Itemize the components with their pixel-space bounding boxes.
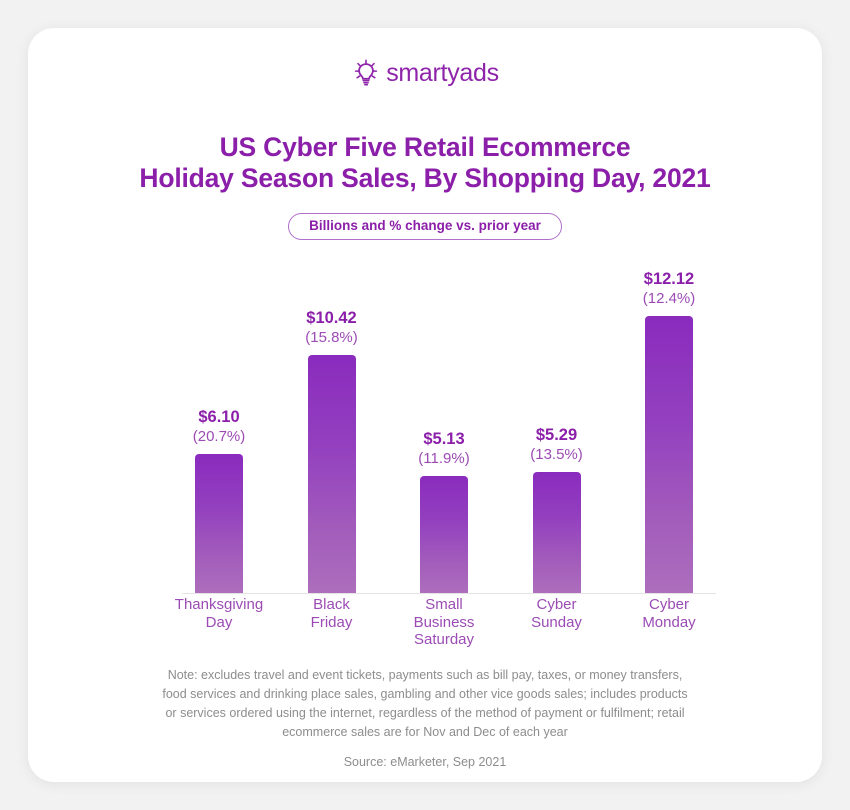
bar-value-cyber-monday: $12.12 xyxy=(643,270,696,289)
x-label-cyber-sunday: Cyber Sunday xyxy=(502,596,612,649)
x-label-cyber-monday-line-1: Cyber xyxy=(614,596,724,614)
x-axis-category-labels: Thanksgiving Day Black Friday Small Busi… xyxy=(164,596,724,649)
subtitle-badge: Billions and % change vs. prior year xyxy=(288,213,562,240)
bar-change-small-business-saturday: (11.9%) xyxy=(418,449,469,468)
source-line: Source: eMarketer, Sep 2021 xyxy=(125,754,725,771)
bar-value-cyber-sunday: $5.29 xyxy=(530,426,583,445)
chart-card: smartyads US Cyber Five Retail Ecommerce… xyxy=(28,28,822,782)
x-label-cyber-monday-line-2: Monday xyxy=(614,614,724,632)
bar-column-thanksgiving-day: $6.10 (20.7%) xyxy=(164,255,274,593)
brand-name: smartyads xyxy=(386,59,499,88)
x-label-small-business-saturday-line-3: Saturday xyxy=(389,631,499,649)
x-label-cyber-sunday-line-2: Sunday xyxy=(502,614,612,632)
lightbulb-icon xyxy=(351,58,381,88)
footnote-line-2: food services and drinking place sales, … xyxy=(125,685,725,704)
footnote: Note: excludes travel and event tickets,… xyxy=(125,666,725,742)
axis-baseline xyxy=(182,593,716,595)
x-label-thanksgiving-day-line-2: Day xyxy=(164,614,274,632)
x-label-thanksgiving-day: Thanksgiving Day xyxy=(164,596,274,649)
x-label-black-friday: Black Friday xyxy=(277,596,387,649)
footnote-line-1: Note: excludes travel and event tickets,… xyxy=(125,666,725,685)
bar-label-cyber-monday: $12.12 (12.4%) xyxy=(643,270,696,308)
x-label-small-business-saturday-line-2: Business xyxy=(389,614,499,632)
bar-value-black-friday: $10.42 xyxy=(305,309,358,328)
footnote-line-4: ecommerce sales are for Nov and Dec of e… xyxy=(125,723,725,742)
bar-cyber-sunday[interactable] xyxy=(533,472,581,593)
subtitle-badge-wrapper: Billions and % change vs. prior year xyxy=(28,213,822,240)
x-label-cyber-monday: Cyber Monday xyxy=(614,596,724,649)
x-label-black-friday-line-2: Friday xyxy=(277,614,387,632)
bar-thanksgiving-day[interactable] xyxy=(195,454,243,593)
bar-black-friday[interactable] xyxy=(308,355,356,593)
x-label-black-friday-line-1: Black xyxy=(277,596,387,614)
bar-change-black-friday: (15.8%) xyxy=(305,328,358,347)
bar-column-black-friday: $10.42 (15.8%) xyxy=(277,255,387,593)
bar-label-cyber-sunday: $5.29 (13.5%) xyxy=(530,426,583,464)
x-label-small-business-saturday-line-1: Small xyxy=(389,596,499,614)
bar-group: $6.10 (20.7%) $10.42 (15.8%) $5.13 (11.9… xyxy=(164,255,724,593)
x-label-thanksgiving-day-line-1: Thanksgiving xyxy=(164,596,274,614)
bar-change-cyber-monday: (12.4%) xyxy=(643,289,696,308)
x-label-small-business-saturday: Small Business Saturday xyxy=(389,596,499,649)
bar-label-small-business-saturday: $5.13 (11.9%) xyxy=(418,430,469,468)
bar-label-thanksgiving-day: $6.10 (20.7%) xyxy=(193,408,246,446)
chart-title: US Cyber Five Retail Ecommerce Holiday S… xyxy=(78,132,772,194)
x-label-cyber-sunday-line-1: Cyber xyxy=(502,596,612,614)
bar-value-thanksgiving-day: $6.10 xyxy=(193,408,246,427)
bar-value-small-business-saturday: $5.13 xyxy=(418,430,469,449)
chart-title-line-1: US Cyber Five Retail Ecommerce xyxy=(78,132,772,163)
bar-change-thanksgiving-day: (20.7%) xyxy=(193,427,246,446)
bar-small-business-saturday[interactable] xyxy=(420,476,468,593)
bar-column-cyber-sunday: $5.29 (13.5%) xyxy=(502,255,612,593)
bar-cyber-monday[interactable] xyxy=(645,316,693,593)
bar-column-small-business-saturday: $5.13 (11.9%) xyxy=(389,255,499,593)
brand-logo: smartyads xyxy=(28,58,822,88)
footnote-line-3: or services ordered using the internet, … xyxy=(125,704,725,723)
bar-label-black-friday: $10.42 (15.8%) xyxy=(305,309,358,347)
bar-chart-plot: $6.10 (20.7%) $10.42 (15.8%) $5.13 (11.9… xyxy=(164,254,724,594)
bar-column-cyber-monday: $12.12 (12.4%) xyxy=(614,255,724,593)
bar-change-cyber-sunday: (13.5%) xyxy=(530,445,583,464)
chart-title-line-2: Holiday Season Sales, By Shopping Day, 2… xyxy=(78,163,772,194)
